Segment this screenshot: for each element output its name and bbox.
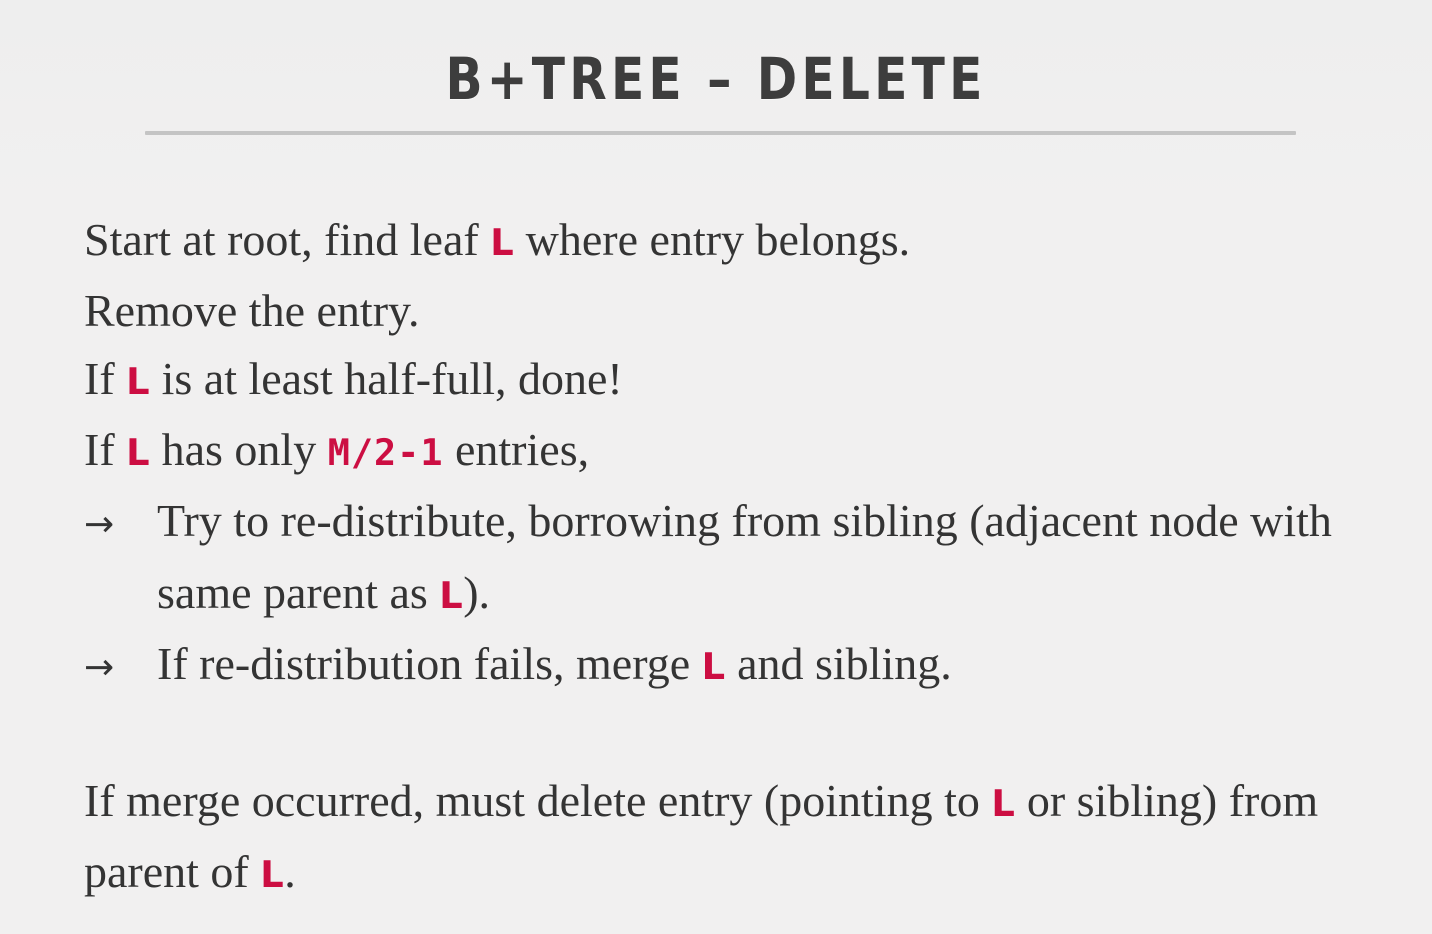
line-4-text-c: entries, <box>443 424 589 475</box>
highlight-leaf-l: L <box>126 360 150 403</box>
line-4-text-b: has only <box>150 424 328 475</box>
bullet-2-text-a: If re-distribution fails, merge <box>157 638 702 689</box>
body-line-4: If L has only M/2-1 entries, <box>84 416 1404 487</box>
line-3-text-b: is at least half-full, done! <box>150 353 623 404</box>
para-text-a: If merge occurred, must delete entry (po… <box>84 775 991 826</box>
line-1-text-b: where entry belongs. <box>514 214 910 265</box>
page-title: B+TREE – DELETE <box>115 42 1318 116</box>
highlight-leaf-l: L <box>126 431 150 474</box>
highlight-leaf-l: L <box>991 782 1015 825</box>
title-divider <box>145 131 1296 135</box>
body-line-3: If L is at least half-full, done! <box>84 345 1404 416</box>
paragraph-parent-delete: If merge occurred, must delete entry (po… <box>84 767 1384 909</box>
highlight-leaf-l: L <box>439 574 463 617</box>
highlight-leaf-l: L <box>260 853 284 896</box>
slide-body: Start at root, find leaf L where entry b… <box>84 206 1404 909</box>
bullet-2-text-b: and sibling. <box>726 638 952 689</box>
arrow-right-icon: → <box>84 491 157 559</box>
highlight-leaf-l: L <box>702 645 726 688</box>
bullet-merge: →If re-distribution fails, merge L and s… <box>84 630 1387 702</box>
slide-canvas: B+TREE – DELETE Start at root, find leaf… <box>0 0 1432 934</box>
paragraph-spacer <box>84 702 1404 767</box>
highlight-leaf-l: L <box>490 221 514 264</box>
line-2-text-a: Remove the entry. <box>84 285 420 336</box>
highlight-capacity-formula: M/2-1 <box>328 431 444 474</box>
line-1-text-a: Start at root, find leaf <box>84 214 490 265</box>
body-line-2: Remove the entry. <box>84 277 1404 345</box>
line-4-text-a: If <box>84 424 126 475</box>
bullet-1-text-a: Try to re-distribute, borrowing from sib… <box>157 495 1332 618</box>
bullet-1-text-b: ). <box>463 567 490 618</box>
arrow-right-icon: → <box>84 634 157 702</box>
bullet-redistribute: →Try to re-distribute, borrowing from si… <box>84 487 1387 630</box>
body-line-1: Start at root, find leaf L where entry b… <box>84 206 1404 277</box>
line-3-text-a: If <box>84 353 126 404</box>
para-text-c: . <box>284 846 296 897</box>
